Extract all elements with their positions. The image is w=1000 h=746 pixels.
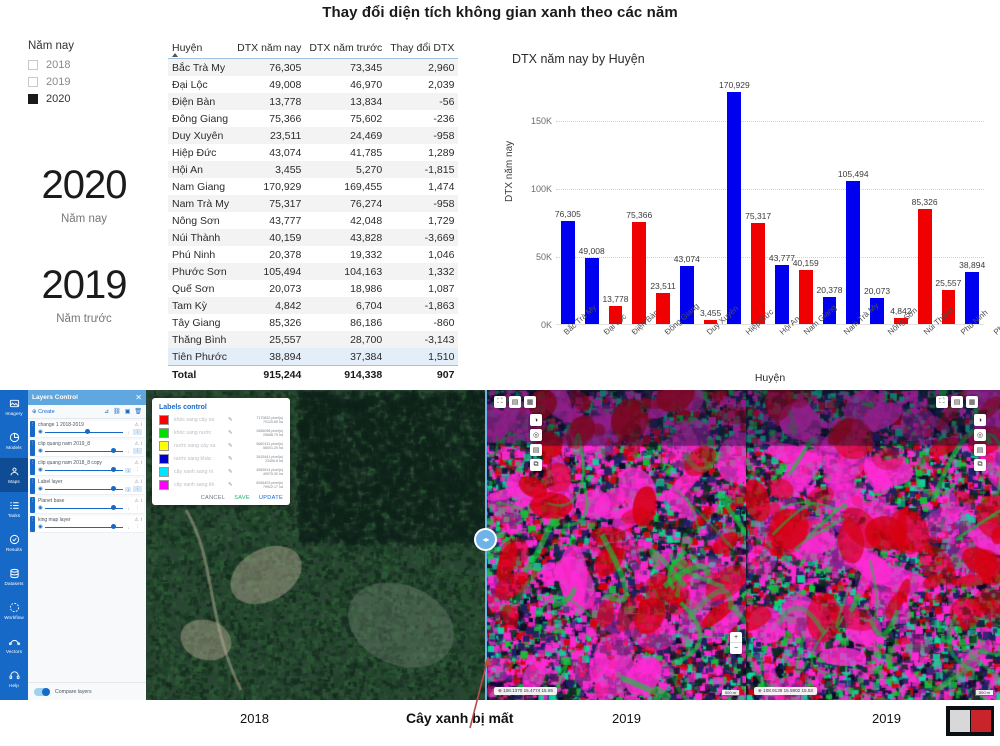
label-color-swatch[interactable] — [159, 441, 169, 451]
col-dtx-nam-nay[interactable]: DTX năm nay — [233, 40, 305, 59]
label-stats: 8266403 pixel(s)79922.17 ha — [256, 481, 283, 490]
label-color-swatch[interactable] — [159, 415, 169, 425]
rail-item-label: Models — [6, 445, 21, 450]
save-button[interactable]: SAVE — [234, 495, 250, 501]
create-label: Create — [38, 409, 55, 415]
table-row[interactable]: Núi Thành40,15943,828-3,669 — [168, 229, 458, 246]
label-name: khóc sang cây xa — [174, 417, 226, 423]
cell-nam-truoc: 75,602 — [305, 110, 386, 127]
cell-nam-truoc: 19,332 — [305, 246, 386, 263]
grid-icon[interactable]: ▦ — [966, 396, 978, 408]
fullscreen-icon[interactable]: ⛶ — [936, 396, 948, 408]
cell-thay-doi: -3,669 — [386, 229, 458, 246]
edit-icon[interactable]: ✎ — [228, 443, 233, 449]
table-row[interactable]: Đại Lộc49,00846,9702,039 — [168, 76, 458, 93]
opacity-slider[interactable] — [45, 486, 123, 492]
label-row[interactable]: nước sang khác✎2615441 pixel(s)23406.8 h… — [159, 454, 283, 464]
label-stats: 7170832 pixel(s)70120.60 ha — [256, 416, 283, 425]
layer-name: clip quang nam 2019_8 — [38, 441, 132, 447]
share-icon[interactable]: ⧉ — [530, 459, 542, 471]
layers-panel-toolbar[interactable]: ⊕ Create ⊿ ⛓ ▣ 🗑 — [28, 405, 146, 419]
help-icon — [9, 670, 20, 681]
rail-item-label: Maps — [8, 479, 20, 484]
cell-huyen: Đại Lộc — [168, 76, 233, 93]
labels-control-panel[interactable]: Labels control khóc sang cây xa✎7170832 … — [152, 398, 290, 505]
chart-icon[interactable]: ⊿ — [104, 408, 109, 415]
card-previous-year-label: Năm trước — [14, 313, 154, 325]
organization-logo — [946, 706, 994, 736]
label-row[interactable]: nước sang cây xa✎5660131 pixel(s)56001.2… — [159, 441, 283, 451]
label-pixels: 2656096 pixel(s) — [256, 429, 283, 433]
layer-drag-handle[interactable]: ⋮ — [30, 421, 35, 437]
cell-huyen: Tây Giang — [168, 314, 233, 331]
rail-item-vectors[interactable]: Vectors — [0, 628, 28, 662]
layer-list[interactable]: ⋮change 1 2018-2019⚠i◉↓⋮⋮clip quang nam … — [28, 419, 146, 682]
cell-thay-doi: 1,087 — [386, 280, 458, 297]
label-pixels: 5660131 pixel(s) — [256, 442, 283, 446]
bar-value-label: 13,778 — [602, 294, 628, 304]
label-area: 23406.8 ha — [265, 459, 283, 463]
labels-rows: khóc sang cây xa✎7170832 pixel(s)70120.6… — [159, 415, 283, 490]
layer-more-button[interactable]: ⋮ — [133, 505, 142, 511]
rail-item-tasks[interactable]: Tasks — [0, 492, 28, 526]
map-right-top-buttons[interactable]: ⛶ ▤ ▦ — [936, 396, 978, 408]
target-icon[interactable]: ◎ — [974, 429, 986, 441]
layers-panel-title: Layers Control — [32, 394, 135, 401]
cell-thay-doi: 1,510 — [386, 348, 458, 366]
layer-item[interactable]: ⋮Planet base⚠i◉↓⋮ — [30, 497, 144, 514]
edit-icon[interactable]: ✎ — [228, 417, 233, 423]
table-row[interactable]: Điện Bàn13,77813,834-56 — [168, 93, 458, 110]
basemap-icon[interactable]: ▤ — [509, 396, 521, 408]
bar-cell[interactable]: 105,494 — [841, 80, 865, 325]
layer-name: clip quang nam 2018_8 copy — [38, 460, 132, 466]
table-row[interactable]: Nam Giang170,929169,4551,474 — [168, 178, 458, 195]
label-row[interactable]: khóc sang nước✎2656096 pixel(s)25688.75 … — [159, 428, 283, 438]
contrast-icon[interactable]: ◑ — [530, 414, 542, 426]
bar-cell[interactable]: 85,326 — [913, 80, 937, 325]
cell-thay-doi: -3,143 — [386, 331, 458, 348]
cell-huyen: Bắc Trà My — [168, 59, 233, 77]
layers-panel-header: Layers Control ✕ — [28, 390, 146, 405]
chart-title: DTX năm nay by Huyện — [512, 52, 990, 66]
cell-nam-nay: 3,455 — [233, 161, 305, 178]
bar-value-label: 23,511 — [650, 281, 675, 291]
contrast-icon[interactable]: ◑ — [974, 414, 986, 426]
cell-thay-doi: -860 — [386, 314, 458, 331]
layers-panel-footer[interactable]: Compare layers — [28, 682, 146, 700]
map-right-side-buttons[interactable]: ◑ ◎ ▤ ⧉ — [974, 414, 986, 471]
label-color-swatch[interactable] — [159, 480, 169, 490]
layer-drag-handle[interactable]: ⋮ — [30, 440, 35, 456]
card-current-year: 2020 Năm nay — [14, 165, 154, 225]
edit-icon[interactable]: ✎ — [228, 469, 233, 475]
layer-drag-handle[interactable]: ⋮ — [30, 478, 35, 494]
close-icon[interactable]: ✕ — [135, 393, 142, 402]
rail-item-results[interactable]: Results — [0, 526, 28, 560]
label-name: nước sang cây xa — [174, 443, 226, 449]
layer-item[interactable]: ⋮Label layer⚠i◉↓⋮ — [30, 478, 144, 495]
bar-cell[interactable]: 75,317 — [746, 80, 770, 325]
card-current-year-label: Năm nay — [14, 213, 154, 225]
rail-item-models[interactable]: Models — [0, 424, 28, 458]
table-row[interactable]: Phú Ninh20,37819,3321,046 — [168, 246, 458, 263]
layer-download-button[interactable]: ↓ — [125, 506, 131, 511]
classified-image-2019 — [486, 390, 746, 700]
slicer-title: Năm nay — [28, 40, 148, 52]
total-label: Total — [168, 366, 233, 384]
bar[interactable] — [632, 222, 646, 325]
layer-download-button[interactable]: ↓ — [125, 487, 131, 492]
layer-more-button[interactable]: ⋮ — [133, 524, 142, 530]
maps-icon — [9, 466, 20, 477]
card-current-year-value: 2020 — [14, 165, 154, 205]
cell-huyen: Tam Kỳ — [168, 297, 233, 314]
rail-item-label: Vectors — [6, 649, 22, 654]
cell-huyen: Hiệp Đức — [168, 144, 233, 161]
layer-download-button[interactable]: ↓ — [125, 468, 131, 473]
fullscreen-icon[interactable]: ⛶ — [494, 396, 506, 408]
caption-2019-mid: 2019 — [612, 711, 641, 726]
warning-icon[interactable]: ⚠ — [134, 441, 138, 447]
table-row[interactable]: Duy Xuyên23,51124,469-958 — [168, 127, 458, 144]
card-previous-year-value: 2019 — [14, 265, 154, 305]
cell-nam-nay: 25,557 — [233, 331, 305, 348]
opacity-slider[interactable] — [45, 467, 123, 473]
edit-icon[interactable]: ✎ — [228, 482, 233, 488]
imagery-icon — [9, 398, 20, 409]
link-icon[interactable]: ⛓ — [113, 408, 121, 415]
app-nav-rail[interactable]: ImageryModelsMapsTasksResultsDatasetsWor… — [0, 390, 28, 700]
bar-value-label: 49,008 — [579, 246, 605, 256]
bar[interactable] — [656, 293, 670, 325]
opacity-slider[interactable] — [45, 524, 123, 530]
cell-nam-truoc: 5,270 — [305, 161, 386, 178]
layers-stack-icon[interactable]: ▤ — [530, 444, 542, 456]
logo-left-mark — [950, 710, 970, 732]
layer-more-button[interactable]: ⋮ — [133, 429, 142, 435]
chart-y-axis-label: DTX năm nay — [504, 141, 515, 202]
label-area: 25688.75 ha — [263, 433, 283, 437]
table-row[interactable]: Hội An3,4555,270-1,815 — [168, 161, 458, 178]
label-area: 56001.20 ha — [263, 446, 283, 450]
warning-icon[interactable]: ⚠ — [134, 517, 138, 523]
map-pane-2019-classified[interactable]: ⛶ ▤ ▦ ◑ ◎ ▤ ⧉ + − ⊕ 108.1370 15.4774 15.… — [486, 390, 746, 700]
bar-cell[interactable]: 20,378 — [818, 80, 842, 325]
info-icon[interactable]: i — [141, 479, 142, 485]
bar[interactable] — [751, 223, 765, 326]
bar-value-label: 20,378 — [816, 285, 842, 295]
cell-nam-truoc: 24,469 — [305, 127, 386, 144]
layer-drag-handle[interactable]: ⋮ — [30, 497, 35, 513]
bar-cell[interactable]: 43,777 — [770, 80, 794, 325]
layer-item[interactable]: ⋮king map layer⚠i◉↓⋮ — [30, 516, 144, 533]
zoom-in-button[interactable]: + — [730, 632, 742, 643]
create-button[interactable]: ⊕ Create — [32, 409, 100, 415]
table-row[interactable]: Tây Giang85,32686,186-860 — [168, 314, 458, 331]
col-huyen[interactable]: Huyện — [168, 40, 233, 59]
table-row[interactable]: Hiệp Đức43,07441,7851,289 — [168, 144, 458, 161]
bar-cell[interactable]: 20,073 — [865, 80, 889, 325]
visibility-icon[interactable]: ◉ — [38, 505, 43, 511]
table-total-row: Total 915,244 914,338 907 — [168, 366, 458, 384]
label-area: 49975.30 ha — [263, 472, 283, 476]
map-mid-scalebar: 500 m — [721, 690, 740, 696]
map-mid-side-buttons[interactable]: ◑ ◎ ▤ ⧉ — [530, 414, 542, 471]
label-stats: 5660131 pixel(s)56001.20 ha — [256, 442, 283, 451]
layers-control-panel[interactable]: Layers Control ✕ ⊕ Create ⊿ ⛓ ▣ 🗑 ⋮chang… — [28, 390, 146, 700]
chart-x-axis-label: Huyện — [556, 372, 984, 384]
cell-nam-nay: 43,777 — [233, 212, 305, 229]
col-thay-doi-dtx[interactable]: Thay đổi DTX — [386, 40, 458, 59]
label-name: khóc sang nước — [174, 430, 226, 436]
bar-cell[interactable]: 38,894 — [960, 80, 984, 325]
map-mid-top-buttons[interactable]: ⛶ ▤ ▦ — [494, 396, 536, 408]
bar-cell[interactable]: 170,929 — [722, 80, 746, 325]
target-icon[interactable]: ◎ — [530, 429, 542, 441]
cell-thay-doi: -1,863 — [386, 297, 458, 314]
layer-download-button[interactable]: ↓ — [125, 449, 131, 454]
layer-name: Planet base — [38, 498, 132, 504]
visibility-icon[interactable]: ◉ — [38, 467, 43, 473]
bar[interactable] — [775, 265, 789, 325]
share-icon[interactable]: ⧉ — [974, 459, 986, 471]
bar-cell[interactable]: 49,008 — [580, 80, 604, 325]
cell-nam-nay: 76,305 — [233, 59, 305, 77]
layer-name: change 1 2018-2019 — [38, 422, 132, 428]
cell-huyen: Thăng Bình — [168, 331, 233, 348]
table-row[interactable]: Nông Sơn43,77742,0481,729 — [168, 212, 458, 229]
cell-thay-doi: 1,289 — [386, 144, 458, 161]
cell-nam-nay: 85,326 — [233, 314, 305, 331]
map-mid-zoom-controls[interactable]: + − — [730, 632, 742, 654]
label-pixels: 4569514 pixel(s) — [256, 468, 283, 472]
cell-thay-doi: -958 — [386, 127, 458, 144]
cell-nam-truoc: 73,345 — [305, 59, 386, 77]
layer-more-button[interactable]: ⋮ — [133, 467, 142, 473]
compare-layers-toggle[interactable] — [34, 688, 50, 696]
rail-item-label: Datasets — [5, 581, 24, 586]
annotation-arrow — [400, 656, 520, 746]
labels-panel-title: Labels control — [159, 404, 283, 411]
swipe-handle[interactable]: ◂▸ — [474, 528, 497, 551]
cell-nam-truoc: 6,704 — [305, 297, 386, 314]
col-dtx-nam-truoc[interactable]: DTX năm trước — [305, 40, 386, 59]
map-pane-2019-right[interactable]: ⛶ ▤ ▦ ◑ ◎ ▤ ⧉ ⊕ 108.9138 15.5902 15.53 5… — [746, 390, 1000, 700]
slicer-option-2018[interactable]: 2018 — [28, 57, 148, 72]
bar-value-label: 43,777 — [769, 253, 795, 263]
label-color-swatch[interactable] — [159, 428, 169, 438]
table-row[interactable]: Thăng Bình25,55728,700-3,143 — [168, 331, 458, 348]
bar[interactable] — [727, 92, 741, 325]
x-tick-label: Phước Sơn — [992, 302, 1000, 337]
warning-icon[interactable]: ⚠ — [134, 498, 138, 504]
cell-thay-doi: 2,039 — [386, 76, 458, 93]
label-stats: 2656096 pixel(s)25688.75 ha — [256, 429, 283, 438]
layer-more-button[interactable]: ⋮ — [133, 486, 142, 492]
bar-value-label: 43,074 — [674, 254, 700, 264]
bar-cell[interactable]: 40,159 — [794, 80, 818, 325]
checkbox-2019[interactable] — [28, 77, 38, 87]
label-row[interactable]: khóc sang cây xa✎7170832 pixel(s)70120.6… — [159, 415, 283, 425]
bar-cell[interactable]: 75,366 — [627, 80, 651, 325]
warning-icon[interactable]: ⚠ — [134, 422, 138, 428]
warning-icon[interactable]: ⚠ — [134, 479, 138, 485]
cell-nam-truoc: 41,785 — [305, 144, 386, 161]
cell-nam-truoc: 42,048 — [305, 212, 386, 229]
opacity-slider[interactable] — [45, 505, 123, 511]
table-row[interactable]: Bắc Trà My76,30573,3452,960 — [168, 59, 458, 77]
bar-cell[interactable]: 76,305 — [556, 80, 580, 325]
layer-drag-handle[interactable]: ⋮ — [30, 459, 35, 475]
layer-item[interactable]: ⋮clip quang nam 2018_8 copy⚠i◉↓⋮ — [30, 459, 144, 476]
slicer-label-2020: 2020 — [46, 93, 70, 105]
visibility-icon[interactable]: ◉ — [38, 429, 43, 435]
table-row[interactable]: Tam Kỳ4,8426,704-1,863 — [168, 297, 458, 314]
table-row[interactable]: Quế Sơn20,07318,9861,087 — [168, 280, 458, 297]
cell-thay-doi: 1,729 — [386, 212, 458, 229]
slicer-label-2018: 2018 — [46, 59, 70, 71]
cell-huyen: Đông Giang — [168, 110, 233, 127]
bar[interactable] — [918, 209, 932, 325]
label-stats: 4569514 pixel(s)49975.30 ha — [256, 468, 283, 477]
cell-nam-truoc: 169,455 — [305, 178, 386, 195]
bar[interactable] — [846, 181, 860, 325]
cell-thay-doi: -958 — [386, 195, 458, 212]
map-right-coordinates: ⊕ 108.9138 15.5902 15.53 — [754, 687, 817, 695]
rail-item-imagery[interactable]: Imagery — [0, 390, 28, 424]
grid-icon[interactable]: ▦ — [524, 396, 536, 408]
cell-nam-nay: 40,159 — [233, 229, 305, 246]
bar-value-label: 76,305 — [555, 209, 581, 219]
zoom-out-button[interactable]: − — [730, 643, 742, 654]
total-nam-nay: 915,244 — [233, 366, 305, 384]
logo-right-mark — [971, 710, 991, 732]
opacity-slider[interactable] — [45, 448, 123, 454]
classified-image-2019-right — [746, 390, 1000, 700]
slicer-option-2020[interactable]: 2020 — [28, 91, 148, 106]
checkbox-2020[interactable] — [28, 94, 38, 104]
visibility-icon[interactable]: ◉ — [38, 486, 43, 492]
update-button[interactable]: UPDATE — [259, 495, 283, 501]
warning-icon[interactable]: ⚠ — [134, 460, 138, 466]
rail-item-workflow[interactable]: Workflow — [0, 594, 28, 628]
trash-icon[interactable]: 🗑 — [134, 408, 142, 415]
layer-drag-handle[interactable]: ⋮ — [30, 516, 35, 532]
info-icon[interactable]: i — [141, 422, 142, 428]
label-name: nước sang khác — [174, 456, 226, 462]
cell-thay-doi: 1,332 — [386, 263, 458, 280]
info-icon[interactable]: i — [141, 517, 142, 523]
table-row[interactable]: Đông Giang75,36675,602-236 — [168, 110, 458, 127]
visibility-icon[interactable]: ◉ — [38, 448, 43, 454]
visibility-icon[interactable]: ◉ — [38, 524, 43, 530]
table-row[interactable]: Phước Sơn105,494104,1631,332 — [168, 263, 458, 280]
basemap-icon[interactable]: ▤ — [951, 396, 963, 408]
bar-cell[interactable]: 3,455 — [699, 80, 723, 325]
info-icon[interactable]: i — [141, 498, 142, 504]
cell-thay-doi: -56 — [386, 93, 458, 110]
cell-nam-nay: 4,842 — [233, 297, 305, 314]
info-icon[interactable]: i — [141, 460, 142, 466]
cell-huyen: Nông Sơn — [168, 212, 233, 229]
rail-item-label: Workflow — [4, 615, 24, 620]
y-tick-label: 0K — [522, 320, 552, 330]
table-row[interactable]: Nam Trà My75,31776,274-958 — [168, 195, 458, 212]
district-table[interactable]: Huyện DTX năm nay DTX năm trước Thay đổi… — [168, 40, 453, 384]
y-tick-label: 50K — [522, 252, 552, 262]
cell-nam-nay: 13,778 — [233, 93, 305, 110]
rail-item-label: Tasks — [8, 513, 20, 518]
layer-download-button[interactable]: ↓ — [125, 525, 131, 530]
bar-cell[interactable]: 23,511 — [651, 80, 675, 325]
bar-value-label: 170,929 — [719, 80, 750, 90]
results-icon — [9, 534, 20, 545]
layers-stack-icon[interactable]: ▤ — [974, 444, 986, 456]
opacity-slider[interactable] — [45, 429, 123, 435]
cell-huyen: Quế Sơn — [168, 280, 233, 297]
edit-icon[interactable]: ✎ — [228, 430, 233, 436]
rail-item-help[interactable]: Help — [0, 662, 28, 696]
label-row[interactable]: cây xanh sang ni✎4569514 pixel(s)49975.3… — [159, 467, 283, 477]
label-area: 70120.60 ha — [263, 420, 283, 424]
edit-icon[interactable]: ✎ — [228, 456, 233, 462]
cancel-button[interactable]: CANCEL — [201, 495, 226, 501]
label-row[interactable]: cây xanh sang kh✎8266403 pixel(s)79922.1… — [159, 480, 283, 490]
year-slicer[interactable]: Năm nay 2018 2019 2020 — [28, 40, 148, 108]
y-tick-label: 150K — [522, 116, 552, 126]
cell-nam-nay: 105,494 — [233, 263, 305, 280]
frame-icon[interactable]: ▣ — [125, 408, 131, 415]
caption-strip: 2018 Cây xanh bị mất 2019 2019 — [0, 700, 1000, 742]
bar-cell[interactable]: 25,557 — [937, 80, 961, 325]
cell-nam-nay: 43,074 — [233, 144, 305, 161]
layer-item[interactable]: ⋮change 1 2018-2019⚠i◉↓⋮ — [30, 421, 144, 438]
rail-item-label: Help — [9, 683, 19, 688]
cell-nam-nay: 49,008 — [233, 76, 305, 93]
bar-cell[interactable]: 4,842 — [889, 80, 913, 325]
rail-item-datasets[interactable]: Datasets — [0, 560, 28, 594]
cell-huyen: Hội An — [168, 161, 233, 178]
table-row[interactable]: Tiên Phước38,89437,3841,510 — [168, 348, 458, 366]
cell-thay-doi: -1,815 — [386, 161, 458, 178]
cell-huyen: Phú Ninh — [168, 246, 233, 263]
info-icon[interactable]: i — [141, 441, 142, 447]
slicer-option-2019[interactable]: 2019 — [28, 74, 148, 89]
caption-2018: 2018 — [240, 711, 269, 726]
cell-nam-nay: 20,378 — [233, 246, 305, 263]
label-pixels: 7170832 pixel(s) — [256, 416, 283, 420]
bar-cell[interactable]: 43,074 — [675, 80, 699, 325]
total-thay-doi: 907 — [386, 366, 458, 384]
cell-nam-truoc: 13,834 — [305, 93, 386, 110]
layer-item[interactable]: ⋮clip quang nam 2019_8⚠i◉↓⋮ — [30, 440, 144, 457]
label-color-swatch[interactable] — [159, 454, 169, 464]
checkbox-2018[interactable] — [28, 60, 38, 70]
bar[interactable] — [799, 270, 813, 325]
rail-item-maps[interactable]: Maps — [0, 458, 28, 492]
cell-huyen: Núi Thành — [168, 229, 233, 246]
bar-cell[interactable]: 13,778 — [604, 80, 628, 325]
cell-nam-truoc: 37,384 — [305, 348, 386, 366]
map-right-coord-text: 108.9138 15.5902 15.53 — [763, 688, 813, 693]
bar-chart[interactable]: DTX năm nay by Huyện DTX năm nay 0K50K10… — [500, 52, 990, 382]
layer-more-button[interactable]: ⋮ — [133, 448, 142, 454]
layer-download-button[interactable]: ↓ — [125, 430, 131, 435]
labels-panel-actions[interactable]: CANCEL SAVE UPDATE — [159, 495, 283, 501]
label-color-swatch[interactable] — [159, 467, 169, 477]
bar[interactable] — [561, 221, 575, 325]
